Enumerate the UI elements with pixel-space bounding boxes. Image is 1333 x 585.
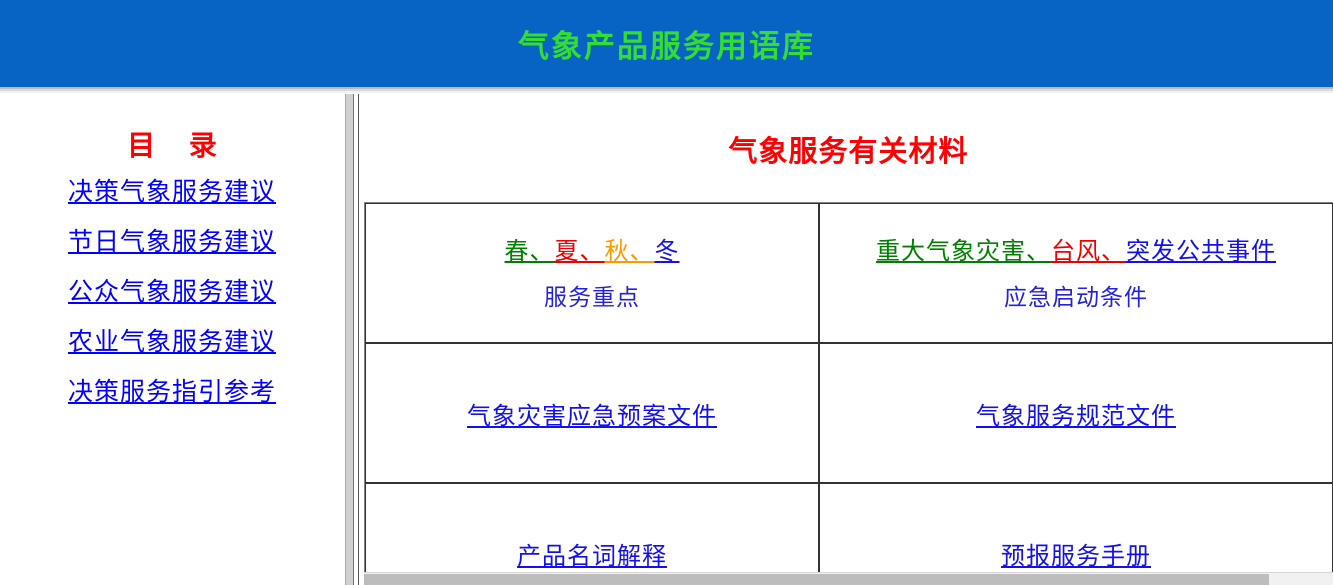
sidebar-item-public-advice[interactable]: 公众气象服务建议 (0, 268, 344, 318)
cell-service-standard-docs[interactable]: 气象服务规范文件 (819, 343, 1333, 483)
sidebar-link-label[interactable]: 决策服务指引参考 (68, 377, 276, 406)
sidebar-link-label[interactable]: 公众气象服务建议 (68, 277, 276, 306)
sidebar-item-holiday-advice[interactable]: 节日气象服务建议 (0, 218, 344, 268)
toc-list: 决策气象服务建议 节日气象服务建议 公众气象服务建议 农业气象服务建议 决策服务… (0, 168, 344, 418)
service-standard-docs-link[interactable]: 气象服务规范文件 (976, 402, 1176, 430)
sidebar-item-decision-guide[interactable]: 决策服务指引参考 (0, 368, 344, 418)
sidebar-link-label[interactable]: 决策气象服务建议 (68, 177, 276, 206)
cell-product-glossary[interactable]: 产品名词解释 (365, 483, 819, 585)
sidebar-item-agriculture-advice[interactable]: 农业气象服务建议 (0, 318, 344, 368)
season-segment-autumn[interactable]: 秋、 (605, 237, 655, 265)
sidebar-link-label[interactable]: 农业气象服务建议 (68, 327, 276, 356)
table-row: 春、夏、秋、冬 服务重点 重大气象灾害、台风、突发公共事件 应急启动条件 (365, 203, 1333, 343)
emergency-segment-major-disaster[interactable]: 重大气象灾害、 (876, 237, 1051, 265)
seasonal-link[interactable]: 春、夏、秋、冬 (366, 234, 818, 269)
emergency-segment-typhoon[interactable]: 台风、 (1051, 237, 1126, 265)
frame-splitter-bar[interactable] (345, 94, 354, 585)
page-root: 气象产品服务用语库 目 录 决策气象服务建议 节日气象服务建议 公众气象服务建议… (0, 0, 1333, 585)
content-frame: 气象服务有关材料 春、夏、秋、冬 服务重点 重大气象灾害、台风、突发公共事件 (364, 94, 1333, 585)
frame-splitter-edge (358, 94, 359, 585)
table-row: 气象灾害应急预案文件 气象服务规范文件 (365, 343, 1333, 483)
materials-table: 春、夏、秋、冬 服务重点 重大气象灾害、台风、突发公共事件 应急启动条件 (364, 202, 1333, 585)
sidebar-item-decision-advice[interactable]: 决策气象服务建议 (0, 168, 344, 218)
emergency-segment-public-incident[interactable]: 突发公共事件 (1126, 237, 1276, 265)
cell-disaster-emergency-plan[interactable]: 气象灾害应急预案文件 (365, 343, 819, 483)
horizontal-scrollbar-thumb[interactable] (364, 574, 1269, 585)
frame-splitter[interactable] (344, 94, 364, 585)
disaster-emergency-plan-link[interactable]: 气象灾害应急预案文件 (467, 402, 717, 430)
banner-frame: 气象产品服务用语库 (0, 0, 1333, 94)
content-heading: 气象服务有关材料 (364, 94, 1333, 170)
table-row: 产品名词解释 预报服务手册 (365, 483, 1333, 585)
sidebar-frame: 目 录 决策气象服务建议 节日气象服务建议 公众气象服务建议 农业气象服务建议 … (0, 94, 344, 585)
cell-subtitle-activation-condition: 应急启动条件 (820, 278, 1332, 312)
season-segment-winter[interactable]: 冬 (655, 237, 680, 265)
season-segment-summer[interactable]: 夏、 (555, 237, 605, 265)
horizontal-scrollbar[interactable] (364, 572, 1333, 585)
toc-heading: 目 录 (0, 124, 344, 164)
forecast-service-manual-link[interactable]: 预报服务手册 (1001, 542, 1151, 570)
cell-subtitle-service-focus: 服务重点 (366, 278, 818, 312)
cell-seasonal-service-focus[interactable]: 春、夏、秋、冬 服务重点 (365, 203, 819, 343)
banner-bottom-edge (0, 87, 1333, 94)
product-glossary-link[interactable]: 产品名词解释 (517, 542, 667, 570)
emergency-link[interactable]: 重大气象灾害、台风、突发公共事件 (820, 234, 1332, 269)
app-banner: 气象产品服务用语库 (0, 0, 1333, 87)
sidebar-link-label[interactable]: 节日气象服务建议 (68, 227, 276, 256)
app-title: 气象产品服务用语库 (518, 21, 815, 66)
cell-forecast-service-manual[interactable]: 预报服务手册 (819, 483, 1333, 585)
season-segment-spring[interactable]: 春、 (505, 237, 555, 265)
cell-emergency-activation[interactable]: 重大气象灾害、台风、突发公共事件 应急启动条件 (819, 203, 1333, 343)
body-area: 目 录 决策气象服务建议 节日气象服务建议 公众气象服务建议 农业气象服务建议 … (0, 94, 1333, 585)
